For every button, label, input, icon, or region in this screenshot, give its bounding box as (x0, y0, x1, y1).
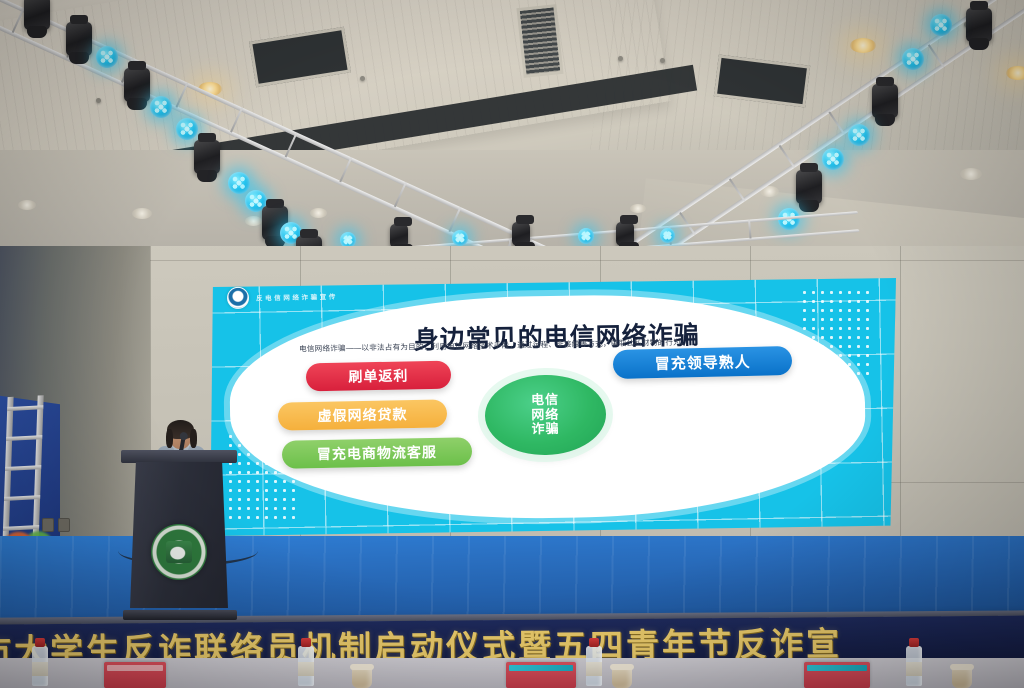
sprinkler-head-2 (360, 76, 365, 81)
moving-head-light (66, 22, 92, 56)
speaker-hair-side-left (166, 429, 173, 448)
moving-head-light (872, 84, 898, 118)
truss-web (285, 132, 298, 157)
podium-base (123, 610, 237, 620)
wall-seam (900, 246, 901, 576)
speaker-hair-side-right (190, 429, 197, 448)
name-card-tent (804, 662, 870, 688)
truss-web (928, 44, 945, 68)
fraud-type-pill-fake-courier[interactable]: 冒充电商物流客服 (282, 437, 472, 468)
led-par-light (228, 172, 250, 194)
name-card-label (509, 665, 573, 671)
moving-head-light (966, 8, 992, 42)
led-par-light (96, 46, 118, 68)
bottle-cap (301, 638, 311, 647)
truss-web (748, 220, 751, 239)
water-bottle[interactable] (586, 646, 602, 686)
bottle-label (298, 662, 314, 676)
truss-web (828, 111, 845, 135)
truss-web (12, 8, 25, 33)
led-par-light (176, 118, 198, 140)
center-node-line-3: 诈骗 (532, 422, 560, 437)
university-crest-icon (151, 524, 207, 580)
bottle-label (906, 662, 922, 676)
led-par-light (452, 230, 468, 246)
ceiling-downlight-6 (310, 208, 327, 218)
ceiling-downlight-9 (630, 204, 646, 213)
podium-body (130, 462, 228, 608)
screenshot-root: 反电信网络诈骗宣传 身边常见的电信网络诈骗 电信网络诈骗——以非法占有为目的，利… (0, 0, 1024, 688)
moving-head-light (390, 224, 408, 248)
sprinkler-head-1 (96, 98, 101, 103)
center-node-line-2: 网络 (532, 407, 560, 422)
truss-web (175, 82, 188, 107)
ceiling-downlight-2 (850, 38, 876, 53)
moving-head-light (796, 170, 822, 204)
ceiling-downlight-4 (132, 208, 152, 219)
podium-top (121, 450, 237, 463)
fraud-type-pill-shuadan[interactable]: 刷单返利 (306, 360, 451, 391)
truss-web (394, 182, 407, 207)
tea-cup[interactable] (612, 668, 632, 688)
led-par-light (930, 14, 952, 36)
tea-cup[interactable] (952, 668, 972, 688)
bottle-cap (589, 638, 599, 647)
moving-head-light (24, 0, 50, 30)
slide-brand-text: 反电信网络诈骗宣传 (256, 291, 338, 303)
truss-web (448, 207, 461, 232)
led-par-light (848, 124, 870, 146)
water-bottle[interactable] (32, 646, 48, 686)
ceiling-downlight-3 (1006, 66, 1024, 80)
truss-web (779, 145, 796, 169)
led-par-light (902, 48, 924, 70)
name-card-tent (506, 662, 576, 688)
led-par-light (660, 228, 675, 243)
moving-head-light (124, 68, 150, 102)
wall-seam-horizontal (0, 260, 1024, 261)
tea-cup[interactable] (352, 668, 372, 688)
moving-head-light (194, 140, 220, 174)
water-bottle[interactable] (906, 646, 922, 686)
cup-lid (610, 664, 634, 670)
sprinkler-head-3 (618, 56, 623, 61)
bottle-cap (35, 638, 45, 647)
cup-lid (350, 664, 374, 670)
truss-web (729, 178, 746, 202)
bottle-cap (909, 638, 919, 647)
water-bottle[interactable] (298, 646, 314, 686)
bottle-label (32, 662, 48, 676)
cup-lid (950, 664, 974, 670)
led-par-light (822, 148, 844, 170)
slide-brand-bar: 反电信网络诈骗宣传 (226, 285, 337, 309)
fraud-type-pill-fake-loan[interactable]: 虚假网络贷款 (278, 399, 448, 430)
name-card-label (107, 665, 163, 671)
ceiling-air-grille (516, 4, 563, 78)
slide-canvas: 反电信网络诈骗宣传 身边常见的电信网络诈骗 电信网络诈骗——以非法占有为目的，利… (206, 278, 896, 536)
ceiling-downlight-10 (18, 200, 36, 210)
fraud-type-pill-impersonate[interactable]: 冒充领导熟人 (613, 346, 793, 379)
ceiling (0, 0, 1024, 268)
name-card-label (807, 665, 867, 671)
ceiling-downlight-8 (960, 168, 982, 180)
moving-head-light (616, 222, 634, 246)
center-node-line-1: 电信 (531, 393, 559, 408)
name-card-tent (104, 662, 166, 688)
ceiling-downlight-5 (245, 216, 262, 226)
led-par-light (150, 96, 172, 118)
podium (127, 450, 231, 615)
truss-web (230, 107, 243, 132)
bottle-label (586, 662, 602, 676)
sprinkler-head-4 (660, 58, 665, 63)
led-par-light (578, 228, 594, 244)
truss-web (339, 157, 352, 182)
moving-head-light (512, 222, 530, 246)
led-screen: 反电信网络诈骗宣传 身边常见的电信网络诈骗 电信网络诈骗——以非法占有为目的，利… (206, 278, 896, 536)
police-emblem-icon (226, 287, 248, 309)
